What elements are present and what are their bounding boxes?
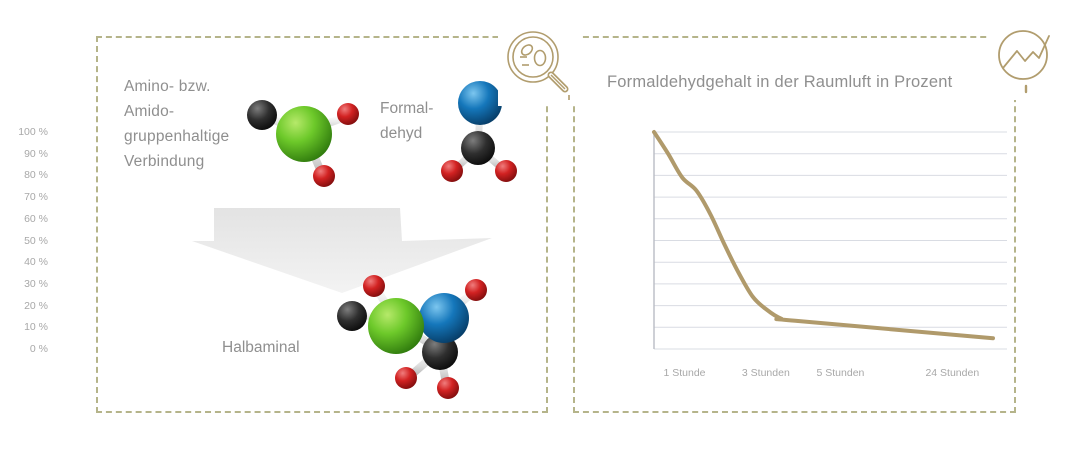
chart-title: Formaldehydgehalt in der Raumluft in Pro… (607, 73, 952, 92)
chart-gridlines (654, 132, 1007, 349)
y-tick-label: 90 % (24, 148, 48, 160)
halbaminal-label: Halbaminal (222, 339, 300, 357)
y-tick-label: 100 % (18, 126, 48, 138)
y-tick-label: 0 % (30, 343, 48, 355)
decay-curve (654, 132, 993, 338)
x-tick-label: 5 Stunden (816, 367, 864, 379)
molecule-halbaminal (330, 272, 502, 404)
y-tick-label: 20 % (24, 300, 48, 312)
chart-y-axis-labels: 100 %90 %80 %70 %60 %50 %40 %30 %20 %10 … (0, 0, 48, 280)
y-tick-label: 30 % (24, 278, 48, 290)
x-tick-label: 1 Stunde (663, 367, 705, 379)
y-tick-label: 80 % (24, 169, 48, 181)
y-tick-label: 60 % (24, 213, 48, 225)
y-tick-label: 10 % (24, 321, 48, 333)
magnifier-molecule-icon (498, 22, 582, 106)
x-tick-label: 3 Stunden (742, 367, 790, 379)
y-tick-label: 40 % (24, 256, 48, 268)
formaldehyde-decay-chart (573, 110, 1016, 390)
trend-chart-circle-icon (988, 20, 1066, 100)
x-tick-label: 24 Stunden (925, 367, 979, 379)
chart-x-axis-labels: 1 Stunde3 Stunden5 Stunden24 Stunden (573, 367, 1016, 385)
molecule-amino-compound (238, 84, 368, 194)
y-tick-label: 70 % (24, 191, 48, 203)
y-tick-label: 50 % (24, 235, 48, 247)
